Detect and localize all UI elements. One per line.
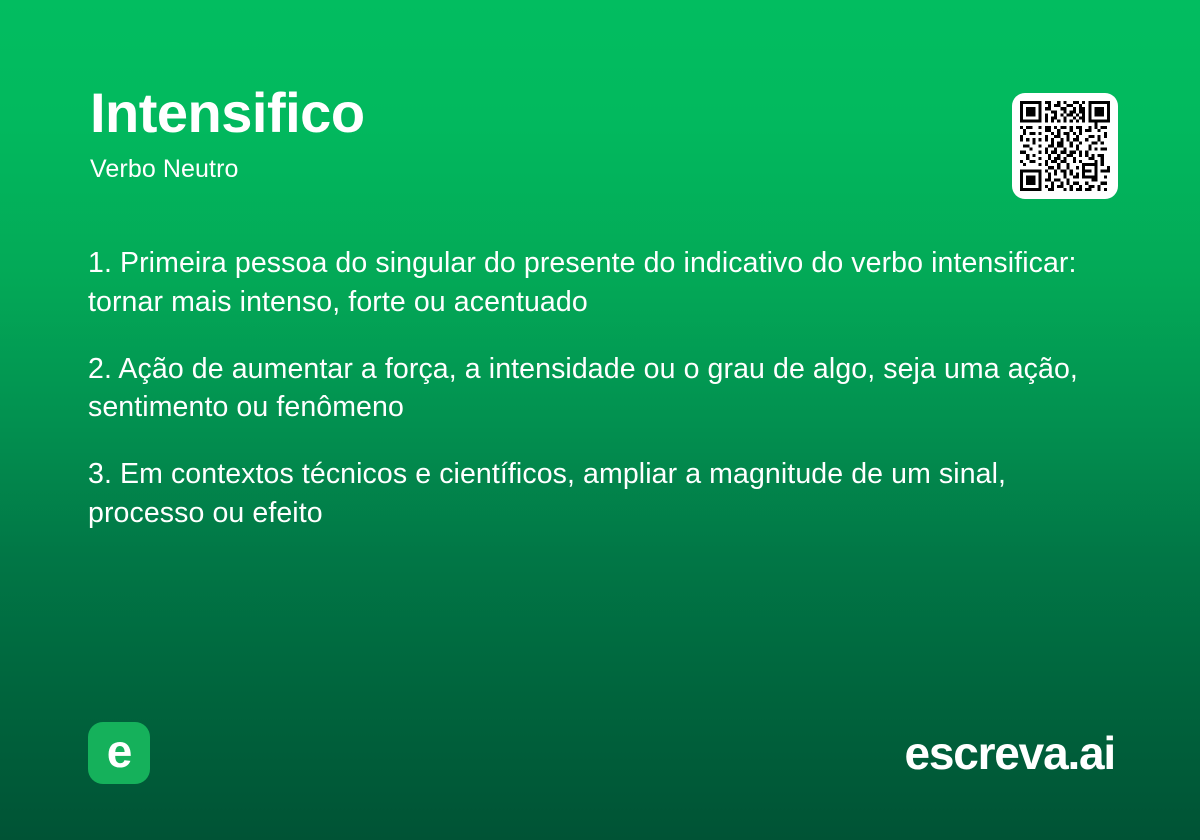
definition-list: 1. Primeira pessoa do singular do presen… (88, 244, 1110, 533)
brand-name-label: escreva.ai (904, 730, 1115, 776)
definition-item-1: 1. Primeira pessoa do singular do presen… (88, 244, 1110, 322)
card-header: Intensifico Verbo Neutro (90, 84, 1110, 184)
dictionary-card: Intensifico Verbo Neutro (0, 0, 1200, 840)
qr-code-icon[interactable] (1012, 93, 1118, 199)
card-footer: e escreva.ai (88, 722, 1115, 784)
page-title: Intensifico (90, 84, 1110, 142)
definition-item-3: 3. Em contextos técnicos e científicos, … (88, 455, 1110, 533)
word-class-label: Verbo Neutro (90, 156, 1110, 184)
brand-logo-letter: e (107, 728, 132, 774)
brand-logo-icon: e (88, 722, 150, 784)
definition-item-2: 2. Ação de aumentar a força, a intensida… (88, 350, 1110, 428)
